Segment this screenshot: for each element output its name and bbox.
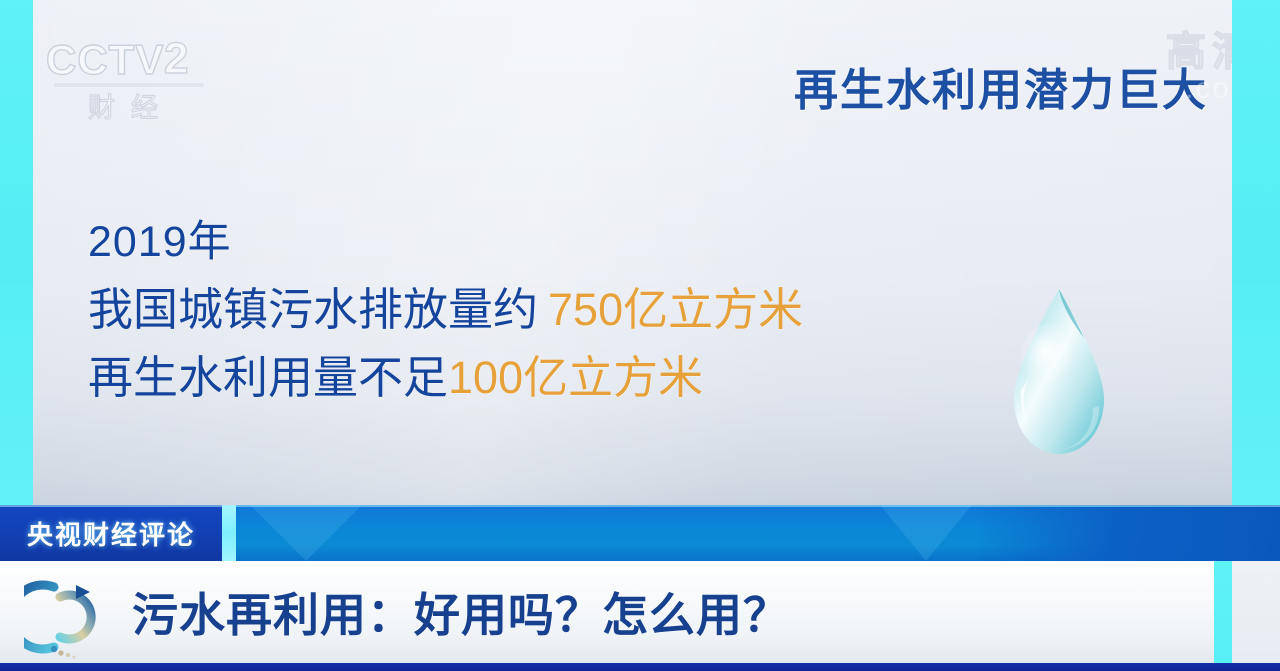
cctv-channel-number: 2 (164, 34, 188, 84)
cctv-wordmark: CCTV (46, 36, 164, 84)
slide-area: CCTV 2 财经 高清 .com 再生水利用潜力巨大 2019年 我国城镇污水… (0, 0, 1280, 505)
lower-third-headline-strip: 污水再利用：好用吗？怎么用？ (0, 561, 1280, 663)
program-label-badge: 央视财经评论 (0, 505, 222, 561)
headline-strip-right-pad (1232, 561, 1280, 663)
slide-body-line-3: 再生水利用量不足100亿立方米 (88, 344, 803, 412)
bar-right-gradient (980, 505, 1280, 561)
lower-third-blue-bar: 央视财经评论 (0, 505, 1280, 561)
broadcast-screen: CCTV 2 财经 高清 .com 再生水利用潜力巨大 2019年 我国城镇污水… (0, 0, 1280, 671)
bottom-navy-strip (0, 663, 1280, 671)
slide-body-block: 2019年 我国城镇污水排放量约750亿立方米 再生水利用量不足100亿立方米 (88, 208, 803, 412)
bar-triangle-decor-2 (880, 505, 972, 561)
cctv2-channel-logo-icon: CCTV 2 财经 (46, 36, 212, 122)
slide-body-line-1: 2019年 (88, 208, 803, 276)
line-2-prefix: 我国城镇污水排放量约 (88, 284, 538, 335)
headline-strip-cyan-accent (1214, 561, 1232, 663)
lower-third-headline: 污水再利用：好用吗？怎么用？ (132, 579, 790, 645)
right-cyan-pillar (1232, 0, 1280, 505)
slide-title: 再生水利用潜力巨大 (794, 54, 1208, 118)
water-droplet-icon (1000, 286, 1118, 458)
bar-triangle-decor-1 (250, 505, 362, 561)
cctv-finance-comment-arc-logo-icon (24, 575, 116, 659)
line-2-highlight: 750亿立方米 (548, 284, 803, 335)
bar-top-highlight-line (0, 505, 1280, 507)
left-cyan-pillar (0, 0, 33, 505)
slide-body-line-2: 我国城镇污水排放量约750亿立方米 (88, 276, 803, 344)
cctv-channel-subtitle: 财经 (66, 86, 196, 125)
line-3-prefix: 再生水利用量不足 (88, 352, 448, 403)
program-label-text: 央视财经评论 (27, 515, 195, 552)
program-label-accent (222, 505, 236, 561)
line-3-highlight: 100亿立方米 (448, 352, 703, 403)
